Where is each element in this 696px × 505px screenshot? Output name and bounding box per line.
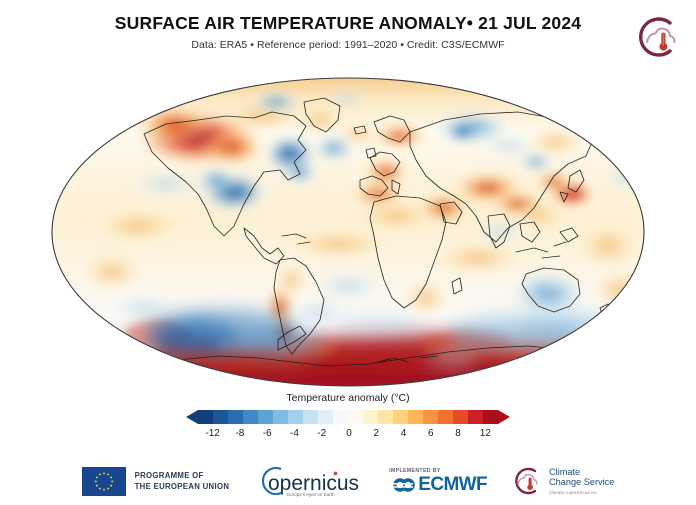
c3s-line-1: Climate bbox=[549, 467, 614, 478]
colorbar-tick-label: 2 bbox=[373, 428, 379, 439]
colorbar-cell bbox=[423, 410, 438, 424]
colorbar-cell bbox=[333, 410, 348, 424]
ecmwf-implemented-by: IMPLEMENTED BY bbox=[389, 468, 440, 474]
colorbar-cell bbox=[378, 410, 393, 424]
colorbar-tick-label: 12 bbox=[480, 428, 491, 439]
colorbar-cell bbox=[453, 410, 468, 424]
colorbar-cell bbox=[363, 410, 378, 424]
c3s-url: climate.copernicus.eu bbox=[549, 490, 614, 495]
colorbar-cell bbox=[288, 410, 303, 424]
colorbar-cell bbox=[273, 410, 288, 424]
logo-strip: PROGRAMME OF THE EUROPEAN UNION opernicu… bbox=[0, 458, 696, 504]
colorbar-cell bbox=[483, 410, 498, 424]
c3s-footer-text: Climate Change Service climate.copernicu… bbox=[549, 467, 614, 496]
ecmwf-mark-icon bbox=[389, 475, 415, 495]
colorbar-right-arrow bbox=[498, 410, 510, 424]
colorbar-cell bbox=[438, 410, 453, 424]
eu-flag-icon bbox=[82, 467, 126, 496]
colorbar-title: Temperature anomaly (°C) bbox=[0, 392, 696, 404]
colorbar-tick-label: 8 bbox=[455, 428, 461, 439]
colorbar-cell bbox=[228, 410, 243, 424]
colorbar-gradient bbox=[176, 409, 520, 425]
colorbar-tick-label: -12 bbox=[205, 428, 219, 439]
colorbar-tick-label: 6 bbox=[428, 428, 434, 439]
copernicus-wordmark: opernicus Europe's eyes on Earth bbox=[251, 465, 367, 497]
c3s-thermometer-footer-icon bbox=[509, 465, 543, 497]
colorbar-cell bbox=[393, 410, 408, 424]
colorbar-cell bbox=[198, 410, 213, 424]
colorbar-left-arrow bbox=[186, 410, 198, 424]
colorbar-tick-label: 4 bbox=[401, 428, 407, 439]
colorbar-tick-label: -8 bbox=[235, 428, 244, 439]
page-subtitle: Data: ERA5 • Reference period: 1991–2020… bbox=[0, 39, 696, 51]
colorbar: Temperature anomaly (°C) -12-8-6-4-20246… bbox=[0, 392, 696, 442]
colorbar-cell bbox=[318, 410, 333, 424]
colorbar-cell bbox=[468, 410, 483, 424]
ecmwf-wordmark: ECMWF bbox=[418, 475, 487, 494]
copernicus-logo: opernicus Europe's eyes on Earth bbox=[251, 465, 367, 497]
colorbar-cell bbox=[303, 410, 318, 424]
map-data-layer bbox=[48, 76, 648, 388]
colorbar-tick-label: -6 bbox=[263, 428, 272, 439]
colorbar-cell bbox=[408, 410, 423, 424]
colorbar-cell bbox=[348, 410, 363, 424]
page-title: SURFACE AIR TEMPERATURE ANOMALY• 21 JUL … bbox=[0, 14, 696, 33]
chart-header: SURFACE AIR TEMPERATURE ANOMALY• 21 JUL … bbox=[0, 14, 696, 51]
colorbar-tick-label: 0 bbox=[346, 428, 352, 439]
colorbar-cell bbox=[213, 410, 228, 424]
colorbar-ticks: -12-8-6-4-20246812 bbox=[186, 428, 510, 442]
svg-text:Europe's eyes on Earth: Europe's eyes on Earth bbox=[287, 492, 335, 497]
colorbar-cell bbox=[258, 410, 273, 424]
colorbar-cell bbox=[243, 410, 258, 424]
eu-logo-text: PROGRAMME OF THE EUROPEAN UNION bbox=[135, 470, 230, 493]
ecmwf-logo: IMPLEMENTED BY ECMWF bbox=[389, 468, 487, 495]
map-canvas bbox=[48, 76, 648, 388]
eu-line-2: THE EUROPEAN UNION bbox=[135, 481, 230, 492]
c3s-line-2: Change Service bbox=[549, 477, 614, 488]
c3s-thermometer-icon bbox=[630, 14, 682, 60]
colorbar-tick-label: -4 bbox=[290, 428, 299, 439]
colorbar-tick-label: -2 bbox=[317, 428, 326, 439]
world-anomaly-map bbox=[48, 76, 648, 388]
eu-logo: PROGRAMME OF THE EUROPEAN UNION bbox=[82, 467, 230, 496]
c3s-footer-logo: Climate Change Service climate.copernicu… bbox=[509, 465, 614, 497]
eu-line-1: PROGRAMME OF bbox=[135, 470, 230, 481]
